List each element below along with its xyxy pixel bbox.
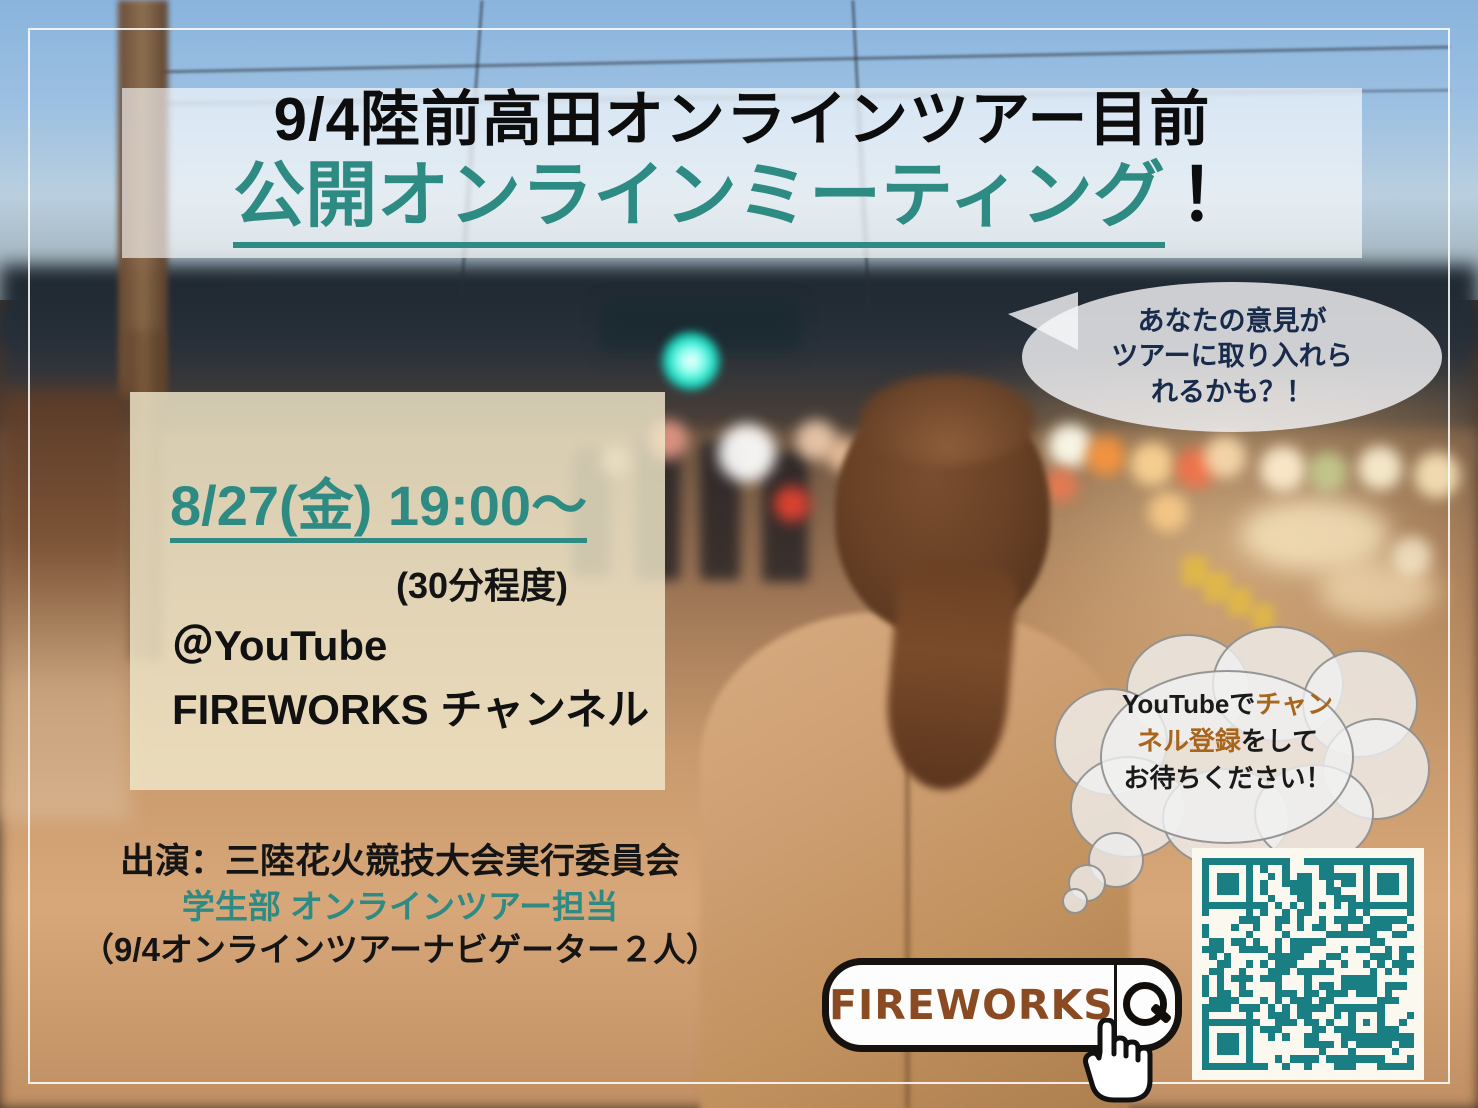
bokeh-light <box>1204 436 1246 478</box>
thought-l2-plain: をして <box>1241 726 1318 756</box>
credits-line-navigators: （9/4オンラインツアーナビゲーター２人） <box>80 928 720 972</box>
thought-line-2: ネル登録をして <box>1030 723 1425 760</box>
qr-code[interactable] <box>1192 848 1424 1080</box>
event-duration: (30分程度) <box>396 557 568 609</box>
page-title-line2: 公開オンラインミーティング！ <box>122 160 1362 232</box>
thought-line-3: お待ちください！ <box>1030 760 1425 797</box>
guard-post <box>1228 588 1252 616</box>
search-input[interactable]: FIREWORKS <box>829 981 1114 1029</box>
traffic-light-green <box>660 330 722 392</box>
thought-l2-highlight: ネル登録 <box>1137 726 1241 756</box>
thought-line-1: YouTubeでチャン <box>1030 686 1425 723</box>
speech-bubble: あなたの意見が ツアーに取り入れら れるかも？！ <box>1022 282 1442 432</box>
page-title-line1: 9/4陸前高田オンラインツアー目前 <box>122 90 1362 150</box>
bokeh-light <box>1308 452 1348 492</box>
thought-l1-highlight: チャン <box>1255 689 1333 719</box>
credits-line-department: 学生部 オンラインツアー担当 <box>80 885 720 929</box>
bokeh-light <box>1130 442 1174 486</box>
bokeh-light <box>1148 492 1188 532</box>
thought-tail-dot-small <box>1062 888 1088 914</box>
thought-l1-plain: YouTubeで <box>1122 689 1255 719</box>
guard-post <box>1204 572 1230 602</box>
bokeh-light <box>774 486 810 522</box>
thought-bubble-text: YouTubeでチャン ネル登録をして お待ちください！ <box>1030 686 1425 797</box>
bokeh-light <box>1260 446 1306 492</box>
bokeh-light <box>1358 446 1402 490</box>
hair-top <box>860 375 1035 465</box>
bokeh-light <box>1048 424 1092 468</box>
event-platform: ＠YouTube <box>172 612 387 673</box>
credits-line-organizer: 出演：三陸花火競技大会実行委員会 <box>80 840 720 885</box>
thought-bubble: YouTubeでチャン ネル登録をして お待ちください！ <box>1030 640 1425 855</box>
speech-line-2: ツアーに取り入れら <box>1111 339 1352 375</box>
poster-canvas: 9/4陸前高田オンラインツアー目前 公開オンラインミーティング！ 8/27(金)… <box>0 0 1478 1108</box>
bokeh-light <box>718 424 776 482</box>
event-datetime: 8/27(金) 19:00〜 <box>170 478 587 543</box>
pointing-hand-cursor <box>1080 1018 1158 1104</box>
bokeh-light <box>1392 536 1432 576</box>
foreground-figure-left <box>0 390 130 820</box>
page-title-exclamation: ！ <box>1179 156 1251 236</box>
qr-code-grid <box>1202 858 1414 1070</box>
speech-line-3: れるかも？！ <box>1111 375 1352 411</box>
bokeh-light <box>1086 436 1126 476</box>
event-channel: FIREWORKS チャンネル <box>172 676 649 737</box>
bokeh-light <box>1414 452 1460 498</box>
page-title-emphasis: 公開オンラインミーティング <box>233 156 1165 248</box>
speech-line-1: あなたの意見が <box>1111 304 1352 340</box>
credits-block: 出演：三陸花火競技大会実行委員会 学生部 オンラインツアー担当 （9/4オンライ… <box>80 840 720 972</box>
speech-bubble-text: あなたの意見が ツアーに取り入れら れるかも？！ <box>1111 304 1352 411</box>
